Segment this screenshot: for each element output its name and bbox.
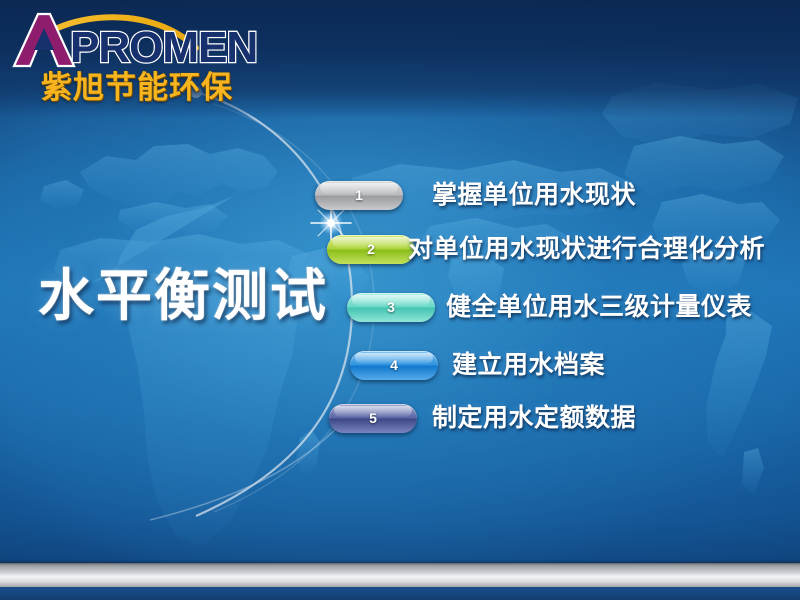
logo-chinese-name: 紫旭节能环保 xyxy=(41,72,233,103)
footer-blue-strip xyxy=(0,587,800,600)
bullet-label-2: 对单位用水现状进行合理化分析 xyxy=(408,233,765,266)
company-logo: PROMEN PROMEN 紫旭节能环保 xyxy=(8,6,278,110)
presentation-slide: PROMEN PROMEN 紫旭节能环保 水平衡测试 xyxy=(0,0,800,600)
bullet-number-1: 1 xyxy=(315,181,403,210)
bullet-number-4: 4 xyxy=(350,351,438,380)
bullet-label-1: 掌握单位用水现状 xyxy=(432,179,636,212)
header-band: PROMEN PROMEN 紫旭节能环保 xyxy=(0,0,800,118)
page-title: 水平衡测试 xyxy=(38,268,328,324)
bullet-number-5: 5 xyxy=(329,404,417,433)
footer-silver-bar xyxy=(0,563,800,589)
bullet-label-4: 建立用水档案 xyxy=(452,349,605,382)
bullet-label-3: 健全单位用水三级计量仪表 xyxy=(446,291,752,324)
logo-letter-a xyxy=(14,14,74,66)
bullet-number-3: 3 xyxy=(347,293,435,322)
svg-text:PROMEN: PROMEN xyxy=(70,23,257,70)
bullet-number-2: 2 xyxy=(327,235,415,264)
bullet-label-5: 制定用水定额数据 xyxy=(432,402,636,435)
